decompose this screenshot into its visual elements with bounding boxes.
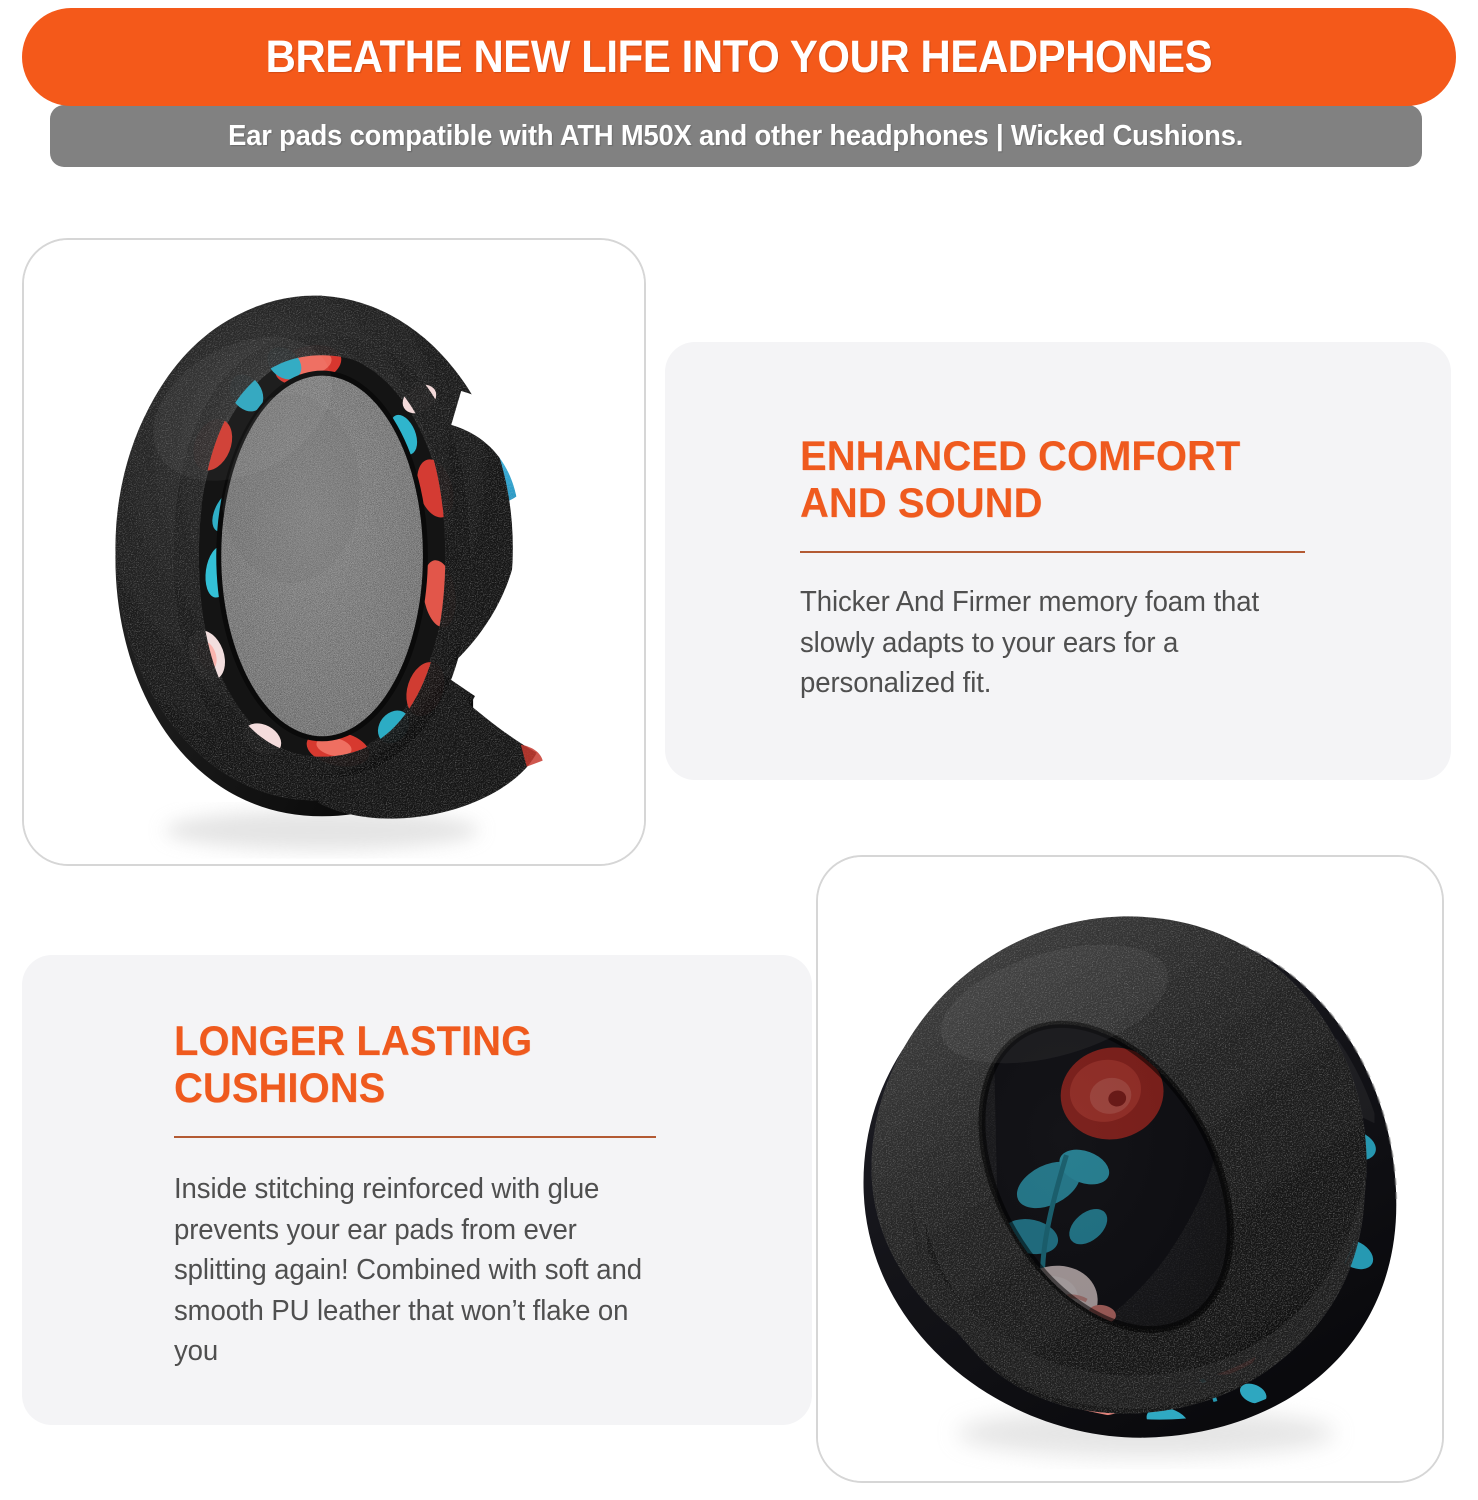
feature-panel-longer-lasting: LONGER LASTING CUSHIONS Inside stitching… [22,955,812,1425]
headline-banner: BREATHE NEW LIFE INTO YOUR HEADPHONES [22,8,1456,106]
feature-divider-enhanced-comfort [800,551,1305,553]
subhead-text: Ear pads compatible with ATH M50X and ot… [228,120,1243,153]
product-photo-earpad-angled [816,855,1444,1483]
headline-text: BREATHE NEW LIFE INTO YOUR HEADPHONES [266,31,1213,83]
photo-shadow [165,810,479,850]
subhead-banner: Ear pads compatible with ATH M50X and ot… [50,105,1422,167]
feature-divider-longer-lasting [174,1136,656,1138]
feature-body-enhanced-comfort: Thicker And Firmer memory foam that slow… [800,582,1294,704]
earpad-angled-illustration [818,857,1442,1481]
feature-title-enhanced-comfort: ENHANCED COMFORT AND SOUND [800,432,1294,526]
earpad-cutaway-illustration [24,240,644,864]
feature-body-longer-lasting: Inside stitching reinforced with glue pr… [174,1169,649,1372]
feature-panel-enhanced-comfort: ENHANCED COMFORT AND SOUND Thicker And F… [665,342,1451,780]
product-photo-earpad-cutaway [22,238,646,866]
feature-title-longer-lasting: LONGER LASTING CUSHIONS [174,1017,649,1111]
